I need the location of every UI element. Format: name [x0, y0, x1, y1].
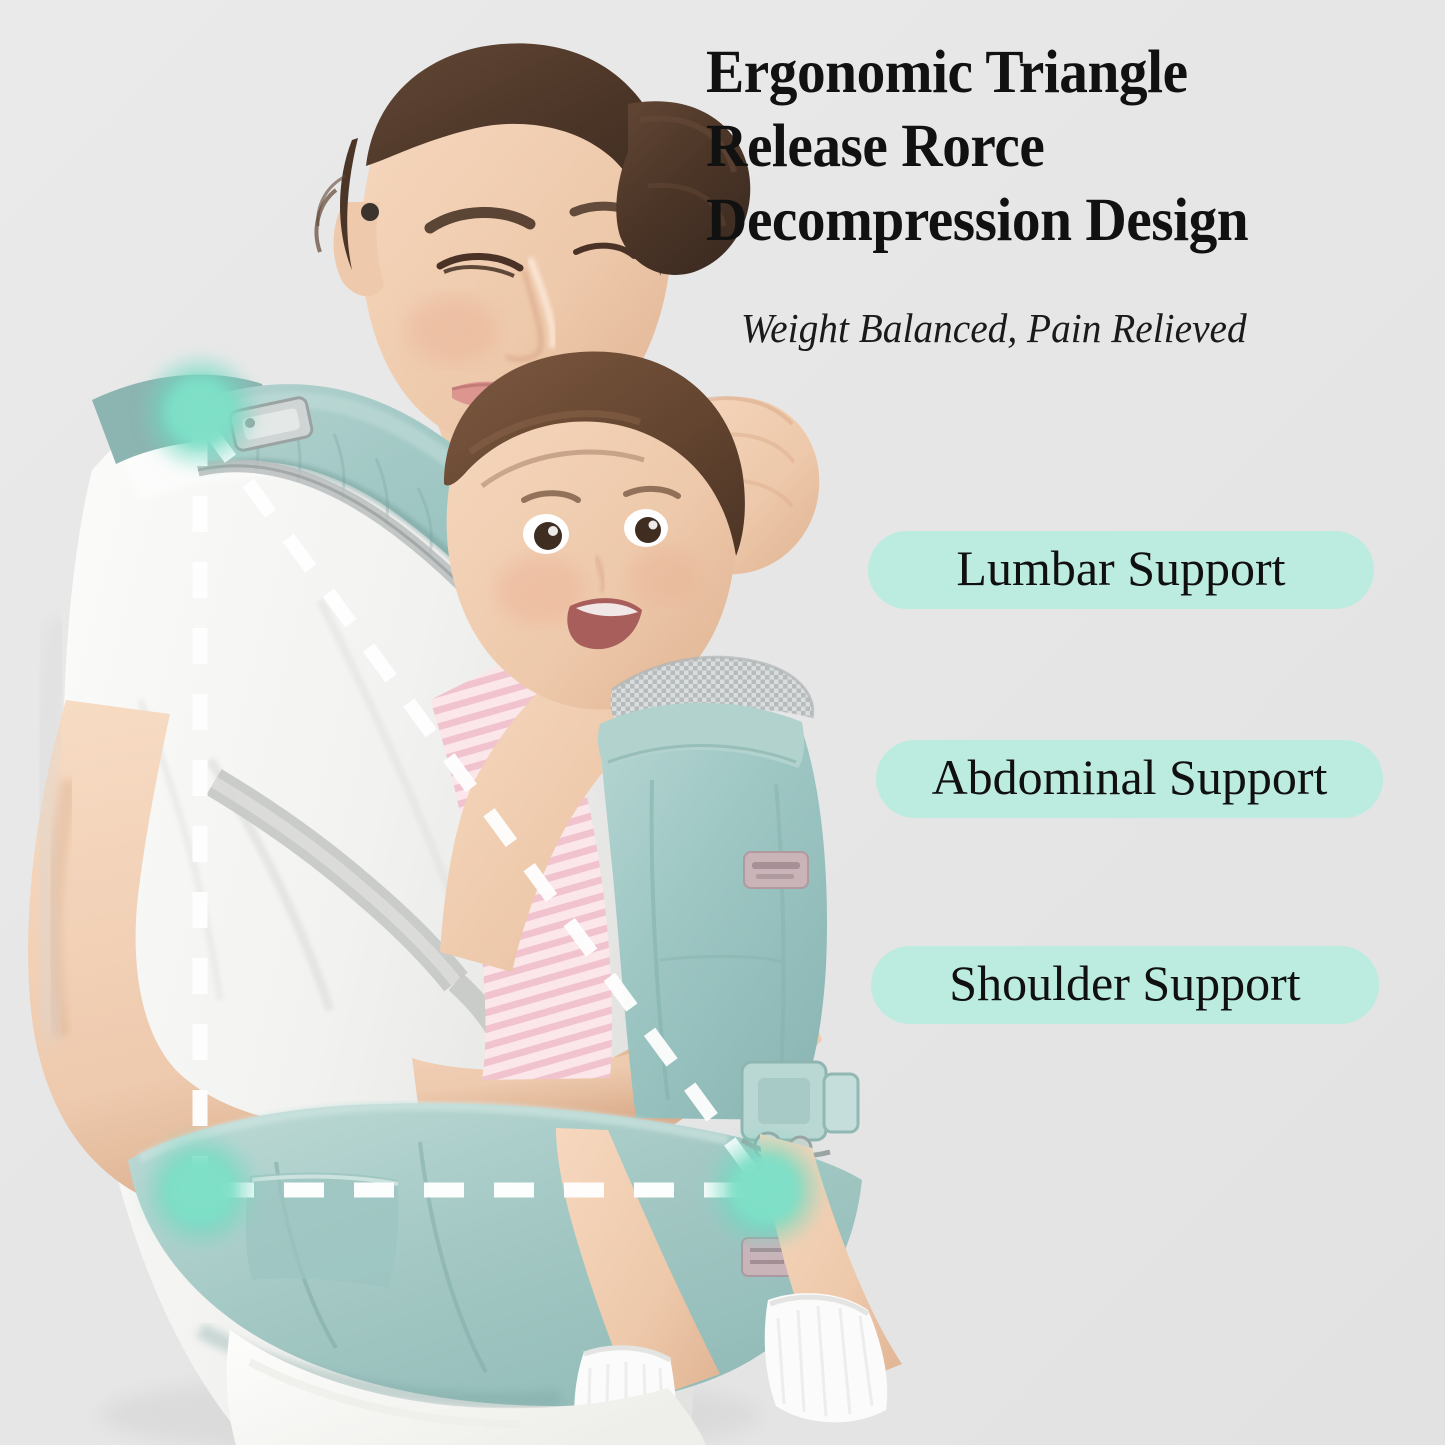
subheadline: Weight Balanced, Pain Relieved [741, 303, 1247, 353]
feature-pill-abdominal-support: Abdominal Support [876, 740, 1383, 818]
headline: Ergonomic Triangle Release Rorce Decompr… [706, 36, 1445, 258]
headline-line-3: Decompression Design [706, 184, 1402, 258]
headline-line-1: Ergonomic Triangle [706, 36, 1402, 110]
product-banner: Ergonomic Triangle Release Rorce Decompr… [0, 0, 1445, 1445]
feature-pill-lumbar-support: Lumbar Support [868, 531, 1374, 609]
headline-line-2: Release Rorce [706, 110, 1402, 184]
feature-pill-shoulder-support: Shoulder Support [871, 946, 1379, 1024]
